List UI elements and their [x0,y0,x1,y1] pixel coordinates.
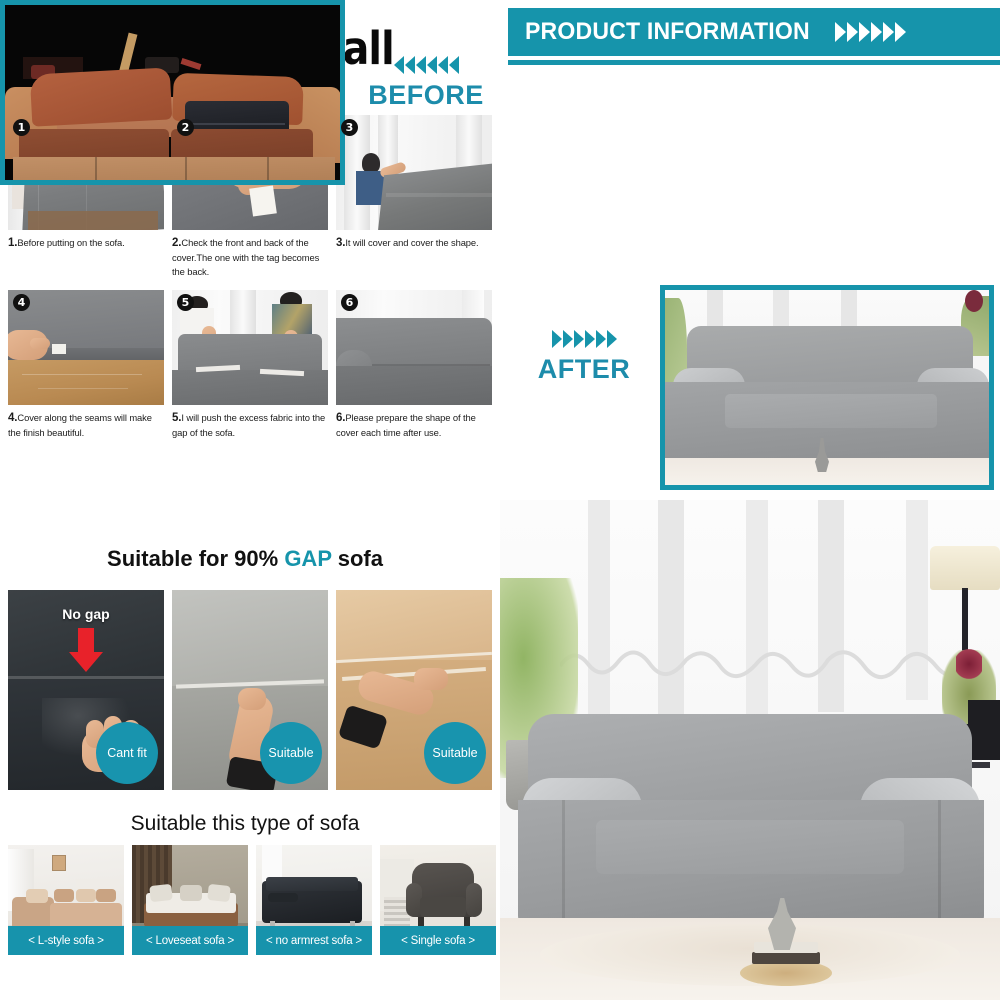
step-caption-text: Cover along the seams will make the fini… [8,412,152,438]
down-arrow-icon [69,628,103,672]
step-number-badge: 5 [177,294,194,311]
sofa-type-card: < Single sofa > [380,845,496,955]
before-image-frame [0,0,345,185]
header-underline [508,60,1000,65]
header-chevrons-icon [835,22,906,42]
sofa-type-label: < L-style sofa > [8,926,124,955]
step-number-label: 6. [336,412,345,424]
before-sofa-photo [5,5,340,180]
product-information-title: PRODUCT INFORMATION [525,18,810,46]
step-photo: 4 [8,290,164,405]
sofa-type-card: < Loveseat sofa > [132,845,248,955]
step-caption-text: It will cover and cover the shape. [345,237,478,248]
gap-badge: Cant fit [96,722,158,784]
step-photo: 5 [172,290,328,405]
step-number-label: 4. [8,412,17,424]
install-steps-row: 4 4.Cover along the seams will make the … [8,290,492,440]
before-chevrons-icon [352,56,500,74]
product-information-header: PRODUCT INFORMATION [508,8,1000,56]
before-label-group: BEFORE [352,56,500,111]
step-caption-text: Check the front and back of the cover.Th… [172,237,319,277]
after-image-frame [660,285,994,490]
gap-panel-suitable-1: Suitable [172,590,328,790]
step-caption: 4.Cover along the seams will make the fi… [8,410,164,440]
step-number-label: 5. [172,412,181,424]
after-chevrons-icon [510,330,658,348]
sofa-type-label: < Loveseat sofa > [132,926,248,955]
step-caption: 3.It will cover and cover the shape. [336,235,492,251]
install-step-4: 4 4.Cover along the seams will make the … [8,290,164,440]
step-photo: 3 [336,115,492,230]
sofa-types-grid: < L-style sofa > < Loveseat sofa > [8,845,496,955]
step-number-badge: 2 [177,119,194,136]
after-sofa-photo [665,290,989,485]
step-number-badge: 3 [341,119,358,136]
step-photo: 6 [336,290,492,405]
curtain-wave-icon [560,640,980,688]
step-number-badge: 6 [341,294,358,311]
step-caption-text: Please prepare the shape of the cover ea… [336,412,476,438]
gap-section-title: Suitable for 90% GAP sofa [0,546,490,572]
install-step-3: 3 3.It will cover and cover the shape. [336,115,492,278]
gap-title-post: sofa [332,546,383,571]
sofa-type-label: < Single sofa > [380,926,496,955]
after-label: AFTER [510,354,658,385]
step-caption: 1.Before putting on the sofa. [8,235,164,251]
step-caption: 6.Please prepare the shape of the cover … [336,410,492,440]
step-number-badge: 1 [13,119,30,136]
gap-title-accent: GAP [284,546,331,571]
step-number-label: 2. [172,237,181,249]
step-number-label: 1. [8,237,17,249]
step-number-badge: 4 [13,294,30,311]
gap-panel-suitable-2: Suitable [336,590,492,790]
gap-badge: Suitable [260,722,322,784]
product-infographic: How to Install [0,0,1000,1000]
step-caption-text: I will push the excess fabric into the g… [172,412,325,438]
hero-sofa-photo [500,500,1000,1000]
sofa-types-title: Suitable this type of sofa [0,812,490,836]
sofa-type-card: < no armrest sofa > [256,845,372,955]
install-step-6: 6 6.Please prepare the shape of the cove… [336,290,492,440]
after-label-group: AFTER [510,330,658,385]
before-label: BEFORE [352,80,500,111]
gap-badge: Suitable [424,722,486,784]
gap-comparison-grid: No gap Cant fit Suitable [8,590,492,790]
install-step-5: 5 5.I will push the excess fabric into t… [172,290,328,440]
gap-panel-cant-fit: No gap Cant fit [8,590,164,790]
sofa-type-card: < L-style sofa > [8,845,124,955]
gap-title-pre: Suitable for 90% [107,546,284,571]
step-caption-text: Before putting on the sofa. [17,237,124,248]
sofa-type-label: < no armrest sofa > [256,926,372,955]
step-caption: 2.Check the front and back of the cover.… [172,235,328,278]
no-gap-label: No gap [8,606,164,622]
step-number-label: 3. [336,237,345,249]
step-caption: 5.I will push the excess fabric into the… [172,410,328,440]
